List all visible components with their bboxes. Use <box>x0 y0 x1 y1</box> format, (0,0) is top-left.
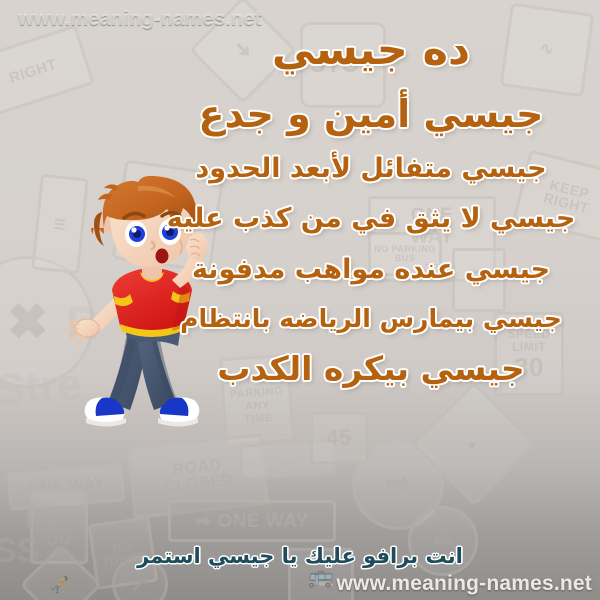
name-description-block: ده جيسي جيسي أمين و جدع جيسي متفائل لأبع… <box>156 18 586 387</box>
description-line-1: جيسي أمين و جدع <box>156 95 586 135</box>
description-line-3: جيسي لا يثق في من كذب عليه <box>156 205 586 233</box>
boy-hand-left <box>68 319 99 344</box>
bg-sign-no-entry: ➡ <box>352 438 444 530</box>
description-line-2: جيسي متفائل لأبعد الحدود <box>156 155 586 183</box>
boy-hair-spike-1 <box>98 194 112 200</box>
footer-phrase: انت برافو عليك يا جيسي استمر <box>0 544 600 568</box>
image-canvas: RIGHT STOP ↗ ONEWAY← ✖ R ☰ ➔ ∿ KEEPRIGHT… <box>0 0 600 600</box>
bg-sign-road-closed: ROADCLOSED <box>127 433 270 519</box>
bg-sign-ahead: ▲ <box>412 382 536 506</box>
boy-eye-left <box>125 221 147 247</box>
bg-sign-one-way-bottom: ONE WAY ➡ <box>168 500 336 542</box>
bg-sign-arrow-left: ← <box>239 440 337 481</box>
watermark-bottom: www.meaning-names.net <box>337 572 592 596</box>
description-line-4: جيسي عنده مواهب مدفونة <box>156 256 586 284</box>
boy-hair-spike-2 <box>104 184 118 191</box>
bg-sign-right: RIGHT <box>0 25 95 118</box>
description-line-6: جيسي بيكره الكدب <box>156 352 586 387</box>
page-title: ده جيسي <box>156 28 586 73</box>
description-line-5: جيسي بيمارس الرياضه بانتظام <box>156 306 586 332</box>
bg-sign-one-way-left: ONE WAY <box>7 463 126 511</box>
bg-sign-45: 45 <box>310 412 368 464</box>
